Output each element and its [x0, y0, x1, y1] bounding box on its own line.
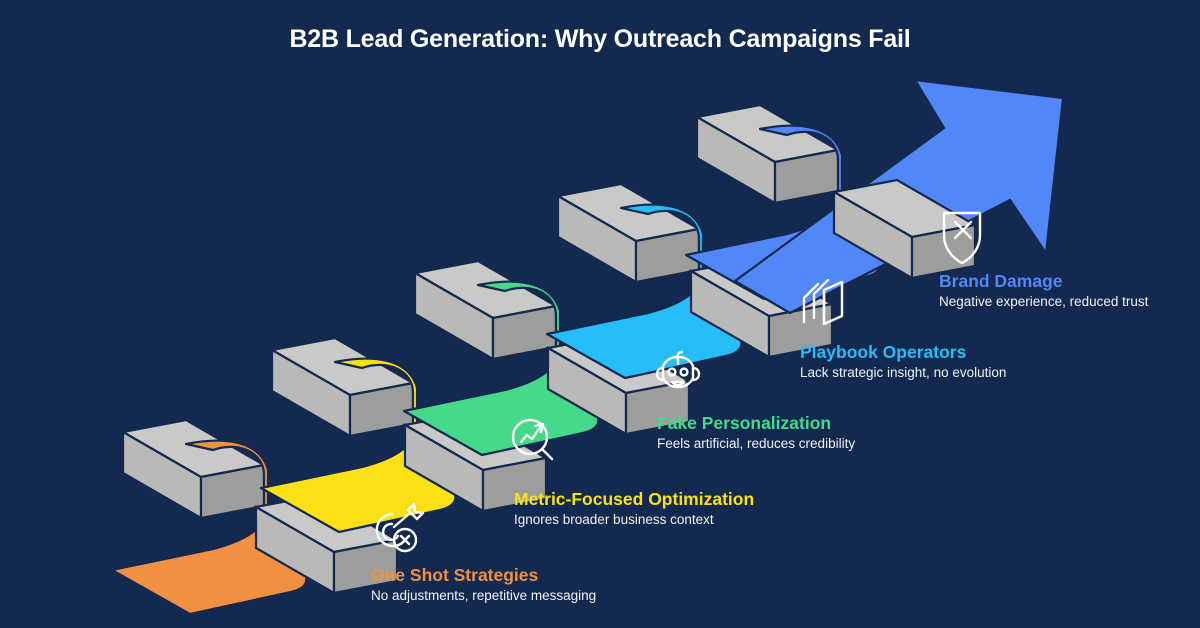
label-heading: One Shot Strategies: [371, 565, 596, 585]
isometric-block-3-back: [415, 261, 556, 359]
label-subtitle: Lack strategic insight, no evolution: [800, 365, 1006, 381]
label-brand-damage: Brand Damage Negative experience, reduce…: [939, 271, 1148, 310]
label-playbook-operators: Playbook Operators Lack strategic insigh…: [800, 342, 1006, 381]
isometric-block-5-back: [697, 105, 838, 203]
label-metric-focused-optimization: Metric-Focused Optimization Ignores broa…: [514, 489, 754, 528]
label-heading: Metric-Focused Optimization: [514, 489, 754, 509]
label-heading: Playbook Operators: [800, 342, 1006, 362]
isometric-block-1-back: [123, 420, 264, 518]
isometric-staircase-illustration: [0, 0, 1200, 628]
label-subtitle: Negative experience, reduced trust: [939, 294, 1148, 310]
isometric-block-2-back: [272, 338, 413, 436]
label-subtitle: No adjustments, repetitive messaging: [371, 588, 596, 604]
label-one-shot-strategies: One Shot Strategies No adjustments, repe…: [371, 565, 596, 604]
label-subtitle: Ignores broader business context: [514, 512, 754, 528]
label-heading: Brand Damage: [939, 271, 1148, 291]
label-heading: Fake Personalization: [657, 413, 855, 433]
infographic-canvas: B2B Lead Generation: Why Outreach Campai…: [0, 0, 1200, 628]
isometric-block-4-back: [558, 184, 699, 282]
label-fake-personalization: Fake Personalization Feels artificial, r…: [657, 413, 855, 452]
label-subtitle: Feels artificial, reduces credibility: [657, 436, 855, 452]
